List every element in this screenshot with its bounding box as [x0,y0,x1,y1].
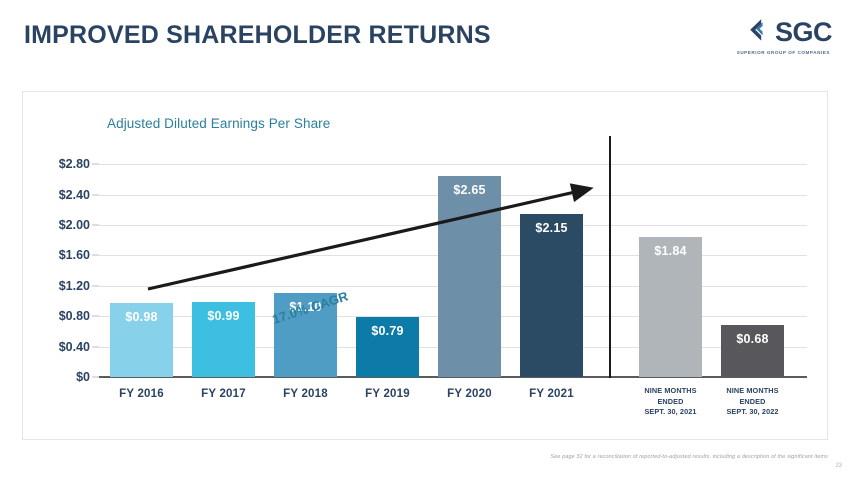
footnote-text: See page 32 for a reconciliation of repo… [551,454,829,460]
y-tick-label: $0.40 [59,340,90,354]
x-tick-label-fy-2019: FY 2019 [356,388,419,400]
bar-value-label: $0.99 [192,309,255,323]
bar-value-label: $2.15 [520,221,583,235]
y-tick-label: $2.40 [59,188,90,202]
x-tick-label-fy-2018: FY 2018 [274,388,337,400]
y-tick-label: $2.80 [59,157,90,171]
bar-value-label: $1.84 [639,244,702,258]
x-tick-label-line-1: NINE MONTHS [721,386,784,397]
bar-fy-2016[interactable]: $0.98 FY 2016 [110,303,173,378]
chart-title: Adjusted Diluted Earnings Per Share [107,116,330,131]
logo-wordmark: SGC [775,19,832,46]
y-tick-mark [92,255,99,256]
y-tick-mark [92,316,99,317]
sgc-logo: SGC SUPERIOR GROUP OF COMPANIES [714,18,832,55]
sgc-chevron-logo-icon [748,18,774,47]
y-tick-label: $0.80 [59,309,90,323]
x-tick-label-fy-2017: FY 2017 [192,388,255,400]
y-tick-mark [92,346,99,347]
period-divider-line [609,136,611,378]
bar-nine-months-2021[interactable]: $1.84 NINE MONTHS ENDED SEPT. 30, 2021 [639,237,702,377]
logo-tagline: SUPERIOR GROUP OF COMPANIES [714,50,830,55]
y-tick-label: $2.00 [59,218,90,232]
y-tick-label: $1.60 [59,248,90,262]
x-tick-label-line-2: ENDED [639,397,702,408]
y-tick-label: $1.20 [59,279,90,293]
bar-value-label: $0.79 [356,324,419,338]
x-tick-label-line-3: SEPT. 30, 2022 [721,407,784,418]
gridline [99,164,807,165]
bar-value-label: $0.68 [721,332,784,346]
x-tick-label-fy-2020: FY 2020 [438,388,501,400]
x-tick-label-nine-months-2021: NINE MONTHS ENDED SEPT. 30, 2021 [639,386,702,418]
bar-nine-months-2022[interactable]: $0.68 NINE MONTHS ENDED SEPT. 30, 2022 [721,325,784,377]
x-tick-label-line-3: SEPT. 30, 2021 [639,407,702,418]
chart-plot-area: $2.80 $2.40 $2.00 $1.60 $1.20 $0.80 $0.4… [99,149,807,377]
chart-card: Adjusted Diluted Earnings Per Share $2.8… [22,91,828,440]
bar-fy-2021[interactable]: $2.15 FY 2021 [520,214,583,377]
x-tick-label-line-1: NINE MONTHS [639,386,702,397]
x-tick-label-line-2: ENDED [721,397,784,408]
x-tick-label-fy-2021: FY 2021 [520,388,583,400]
page-number: 23 [835,463,842,469]
y-tick-mark [92,377,99,378]
x-tick-label-fy-2016: FY 2016 [110,388,173,400]
y-tick-label: $0 [76,370,90,384]
y-tick-mark [92,164,99,165]
bar-fy-2017[interactable]: $0.99 FY 2017 [192,302,255,377]
bar-value-label: $2.65 [438,183,501,197]
y-tick-mark [92,285,99,286]
bar-fy-2020[interactable]: $2.65 FY 2020 [438,176,501,377]
page-title: IMPROVED SHAREHOLDER RETURNS [24,21,491,50]
x-tick-label-nine-months-2022: NINE MONTHS ENDED SEPT. 30, 2022 [721,386,784,418]
y-tick-mark [92,194,99,195]
bar-fy-2019[interactable]: $0.79 FY 2019 [356,317,419,377]
y-tick-mark [92,225,99,226]
bar-value-label: $0.98 [110,310,173,324]
